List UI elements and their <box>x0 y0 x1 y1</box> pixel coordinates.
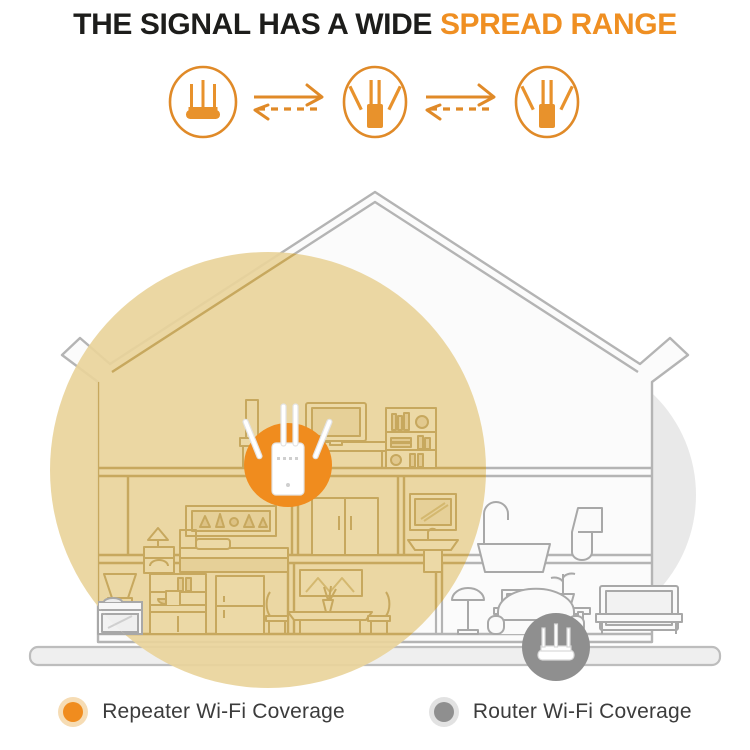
page-title: THE SIGNAL HAS A WIDE SPREAD RANGE <box>0 8 750 42</box>
legend-item-router[interactable]: Router Wi-Fi Coverage <box>429 697 692 727</box>
bedroom-wardrobe-tinted <box>312 498 378 555</box>
house-svg <box>0 150 750 695</box>
router-icon <box>166 64 240 140</box>
signal-arrows-icon <box>418 72 504 132</box>
bathroom-mirror-tinted <box>410 494 456 530</box>
page-title-dark: THE SIGNAL HAS A WIDE <box>73 8 440 41</box>
legend-label-router: Router Wi-Fi Coverage <box>473 700 692 724</box>
page-title-accent: SPREAD RANGE <box>440 8 677 41</box>
router-coverage-swatch-icon <box>429 697 459 727</box>
house-illustration <box>0 150 750 695</box>
infographic-page: THE SIGNAL HAS A WIDE SPREAD RANGE <box>0 0 750 750</box>
signal-arrows-icon <box>246 72 332 132</box>
bedroom-framed-picture-tinted <box>186 506 276 536</box>
legend-item-repeater[interactable]: Repeater Wi-Fi Coverage <box>58 697 345 727</box>
coverage-legend: Repeater Wi-Fi Coverage Router Wi-Fi Cov… <box>0 684 750 740</box>
device-chain-icons <box>0 62 750 142</box>
repeater-coverage-swatch-icon <box>58 697 88 727</box>
living-television <box>600 586 678 630</box>
wifi-router-device <box>522 613 590 681</box>
repeater-icon <box>338 64 412 140</box>
kitchen-refrigerator-tinted <box>216 576 264 634</box>
repeater-icon <box>510 64 584 140</box>
legend-label-repeater: Repeater Wi-Fi Coverage <box>102 700 345 724</box>
attic-bookshelf-tinted <box>386 408 436 468</box>
